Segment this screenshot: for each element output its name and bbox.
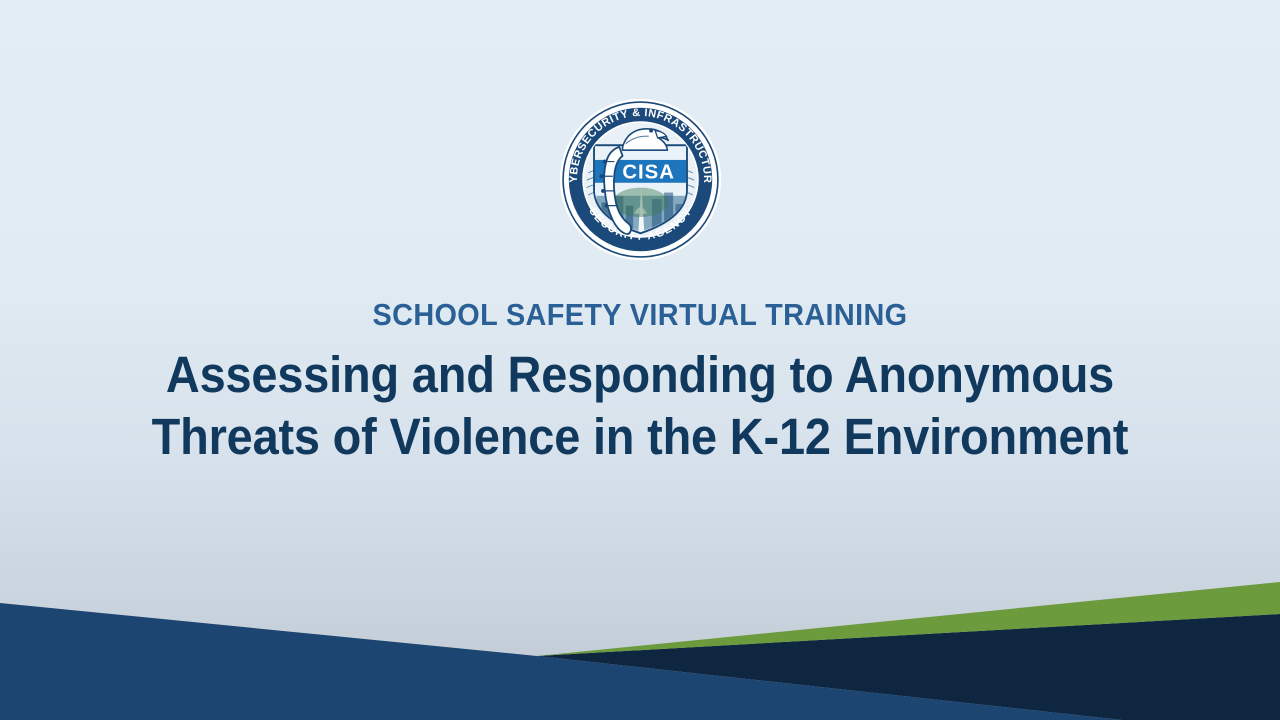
page-title-line-1: Assessing and Responding to Anonymous xyxy=(51,344,1229,406)
logo-container: CYBERSECURITY & INFRASTRUCTURE SECURITY … xyxy=(0,98,1280,261)
page-title-line-2: Threats of Violence in the K-12 Environm… xyxy=(51,406,1229,468)
cisa-seal-icon: CYBERSECURITY & INFRASTRUCTURE SECURITY … xyxy=(559,98,722,261)
title-text-block: SCHOOL SAFETY VIRTUAL TRAINING Assessing… xyxy=(0,296,1280,468)
seal-cisa-text: CISA xyxy=(622,162,675,184)
band-green-shape xyxy=(537,582,1280,656)
eyebrow-label: SCHOOL SAFETY VIRTUAL TRAINING xyxy=(45,296,1235,334)
band-dark-navy-shape xyxy=(537,614,1280,720)
band-medium-blue-shape xyxy=(0,603,1122,720)
title-slide: CYBERSECURITY & INFRASTRUCTURE SECURITY … xyxy=(0,0,1280,720)
page-title: Assessing and Responding to Anonymous Th… xyxy=(51,344,1229,468)
